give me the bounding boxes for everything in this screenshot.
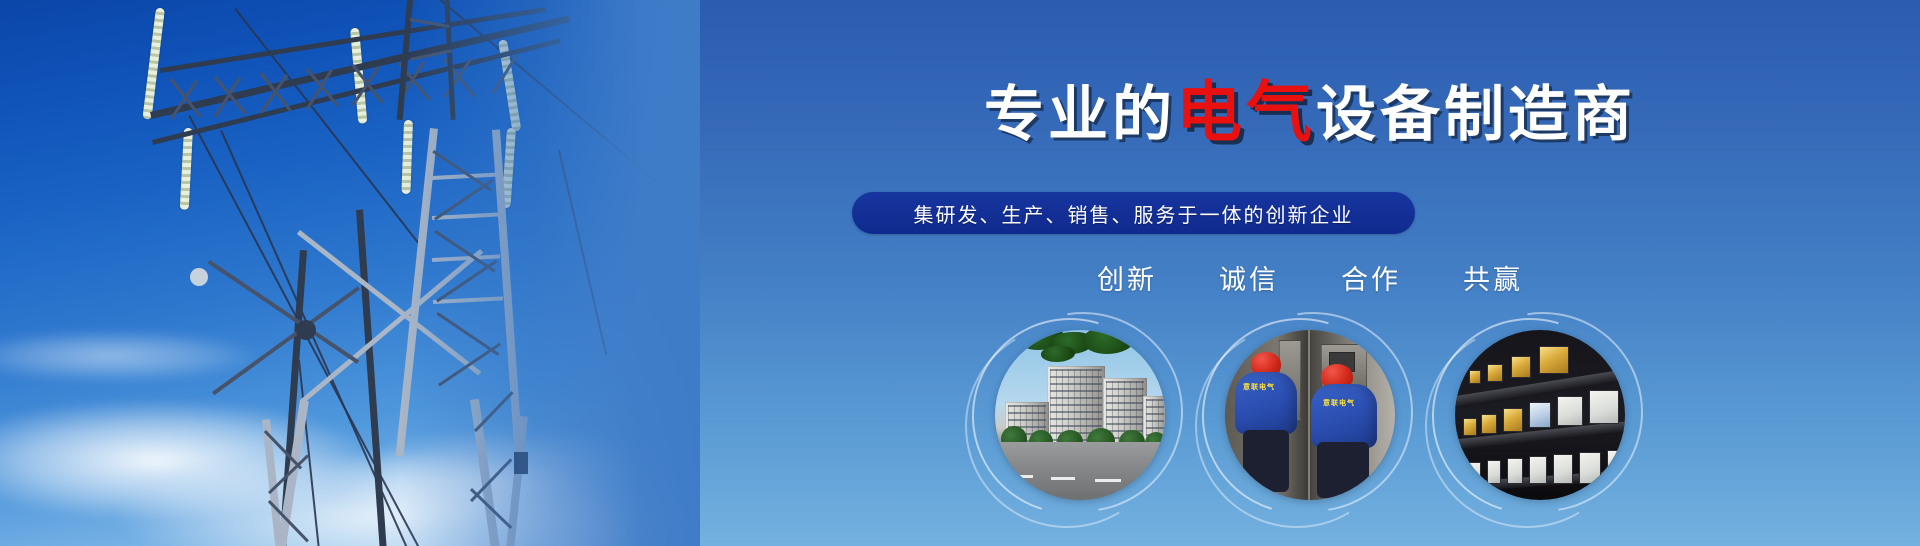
banner-content: 专业的电气设备制造商 集研发、生产、销售、服务于一体的创新企业 创新 诚信 合作… xyxy=(700,0,1920,546)
photo-circle-list: 意联电气 意联电气 xyxy=(700,322,1920,520)
headline-segment-1: 专业的 xyxy=(984,80,1176,150)
certificate-frame xyxy=(1487,460,1501,484)
certificate-frame xyxy=(1507,458,1523,484)
photo-fade-edge xyxy=(400,0,700,546)
certificate-frame xyxy=(1529,456,1547,484)
headline-segment-highlight: 电气 xyxy=(1176,74,1316,151)
workers-installation-photo: 意联电气 意联电气 xyxy=(1225,330,1395,500)
keyword-winwin: 共赢 xyxy=(1463,258,1523,297)
cloud-wisp xyxy=(0,330,260,382)
certificate-frame xyxy=(1557,396,1583,426)
keyword-integrity: 诚信 xyxy=(1219,258,1279,297)
certificate-frame xyxy=(1503,408,1523,432)
worker-legs xyxy=(1243,430,1289,492)
certificate-frame xyxy=(1463,418,1477,436)
certificate-frame xyxy=(1469,462,1481,484)
tower-hub xyxy=(296,320,316,340)
hero-banner: 专业的电气设备制造商 集研发、生产、销售、服务于一体的创新企业 创新 诚信 合作… xyxy=(0,0,1920,546)
company-building-photo xyxy=(995,330,1165,500)
certificates-wall-photo xyxy=(1455,330,1625,500)
keyword-innovation: 创新 xyxy=(1097,258,1157,297)
foreground-branch xyxy=(1041,346,1075,362)
page-title: 专业的电气设备制造商 xyxy=(700,80,1920,146)
uniform-logo: 意联电气 xyxy=(1243,382,1275,392)
subtitle-pill: 集研发、生产、销售、服务于一体的创新企业 xyxy=(852,192,1415,234)
high-voltage-transmission-tower-photo xyxy=(0,0,700,546)
keyword-cooperation: 合作 xyxy=(1341,258,1401,297)
certificate-frame xyxy=(1553,454,1573,484)
company-building-circle[interactable] xyxy=(981,322,1179,520)
certificates-wall-circle[interactable] xyxy=(1441,322,1639,520)
award-plaque xyxy=(1469,370,1481,384)
road-lane-marking xyxy=(1011,475,1033,478)
road xyxy=(995,442,1165,500)
tower-hub xyxy=(190,268,208,286)
certificate-frame xyxy=(1481,414,1497,434)
road-lane-marking xyxy=(1051,477,1075,480)
award-plaque xyxy=(1539,346,1569,374)
subtitle-text: 集研发、生产、销售、服务于一体的创新企业 xyxy=(914,199,1354,228)
award-plaque xyxy=(1487,364,1503,382)
certificate-frame xyxy=(1579,452,1601,484)
keyword-list: 创新 诚信 合作 共赢 xyxy=(700,258,1920,297)
road-lane-marking xyxy=(1141,481,1165,484)
foreground-branch xyxy=(1083,330,1135,354)
workers-installation-circle[interactable]: 意联电气 意联电气 xyxy=(1211,322,1409,520)
award-plaque xyxy=(1511,356,1531,378)
photo-split-divider xyxy=(1308,330,1310,500)
worker-uniform xyxy=(1311,384,1377,448)
uniform-logo: 意联电气 xyxy=(1323,398,1355,408)
certificate-frame xyxy=(1529,402,1551,428)
headline-segment-3: 设备制造商 xyxy=(1316,80,1636,150)
certificate-frame xyxy=(1607,450,1625,482)
worker-legs xyxy=(1317,442,1369,498)
insulator-string xyxy=(142,7,165,119)
certificate-frame xyxy=(1589,390,1619,424)
insulator-string xyxy=(180,128,193,210)
road-lane-marking xyxy=(1095,479,1121,482)
